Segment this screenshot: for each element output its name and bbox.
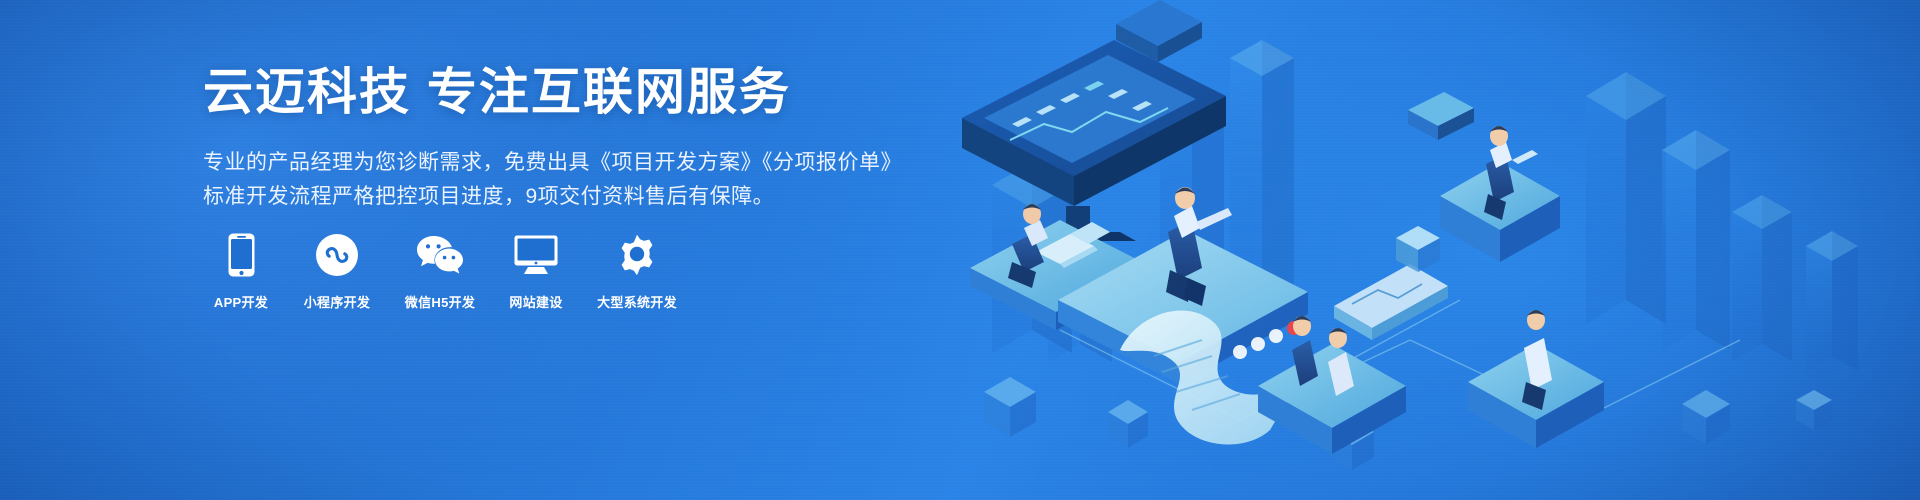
hero-banner: 云迈科技 专注互联网服务 专业的产品经理为您诊断需求，免费出具《项目开发方案》《… xyxy=(0,0,1920,500)
mobile-phone-icon xyxy=(228,232,255,278)
service-item-miniprogram[interactable]: 小程序开发 xyxy=(294,232,380,311)
wechat-icon xyxy=(416,232,464,278)
isometric-tech-illustration xyxy=(940,0,1920,500)
analytics-screen-panel xyxy=(1334,264,1448,340)
service-item-large-system[interactable]: 大型系统开发 xyxy=(589,232,685,311)
service-item-website[interactable]: 网站建设 xyxy=(500,232,572,311)
person-on-stairs xyxy=(1440,126,1560,262)
service-label-miniprogram: 小程序开发 xyxy=(304,292,371,311)
service-item-wechat-h5[interactable]: 微信H5开发 xyxy=(397,232,483,311)
hero-copy: 云迈科技 专注互联网服务 专业的产品经理为您诊断需求，免费出具《项目开发方案》《… xyxy=(203,64,963,214)
floating-device-panel xyxy=(1408,92,1474,140)
service-label-app: APP开发 xyxy=(214,292,268,311)
gear-icon xyxy=(616,232,658,278)
service-list: APP开发 小程序开发 xyxy=(205,232,685,311)
floating-cubes xyxy=(984,377,1832,470)
service-label-large-system: 大型系统开发 xyxy=(597,292,677,311)
mini-program-icon xyxy=(316,232,358,278)
hero-subtitle: 专业的产品经理为您诊断需求，免费出具《项目开发方案》《分项报价单》 标准开发流程… xyxy=(203,146,963,214)
page-title: 云迈科技 专注互联网服务 xyxy=(203,64,963,120)
subtitle-line-1: 专业的产品经理为您诊断需求，免费出具《项目开发方案》《分项报价单》 xyxy=(203,146,963,180)
service-label-wechat-h5: 微信H5开发 xyxy=(405,292,475,311)
monitor-icon xyxy=(514,232,558,278)
person-with-tablet xyxy=(1468,310,1604,448)
accent-cube xyxy=(1396,226,1440,272)
service-item-app[interactable]: APP开发 xyxy=(205,232,277,311)
subtitle-line-2: 标准开发流程严格把控项目进度，9项交付资料售后有保障。 xyxy=(203,180,963,214)
service-label-website: 网站建设 xyxy=(509,292,562,311)
